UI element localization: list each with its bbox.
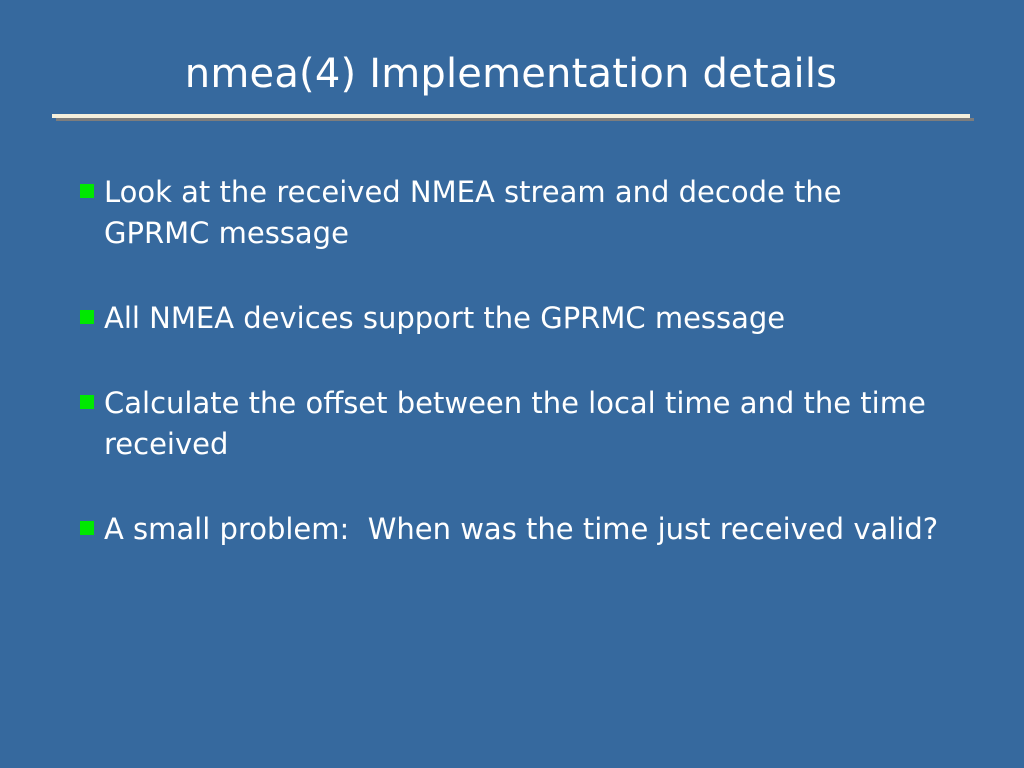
list-item: A small problem: When was the time just … (80, 509, 952, 550)
square-bullet-icon (80, 310, 94, 324)
title-divider-shadow (56, 118, 974, 121)
bullet-list: Look at the received NMEA stream and dec… (80, 172, 952, 550)
list-item-label: A small problem: When was the time just … (104, 509, 952, 550)
list-item: All NMEA devices support the GPRMC messa… (80, 298, 952, 339)
square-bullet-icon (80, 395, 94, 409)
page-title: nmea(4) Implementation details (52, 48, 970, 100)
square-bullet-icon (80, 521, 94, 535)
presentation-slide: nmea(4) Implementation details Look at t… (0, 0, 1024, 768)
list-item: Calculate the offset between the local t… (80, 383, 952, 465)
slide-title-block: nmea(4) Implementation details (52, 48, 970, 100)
square-bullet-icon (80, 184, 94, 198)
list-item-label: Look at the received NMEA stream and dec… (104, 172, 952, 254)
list-item-label: Calculate the offset between the local t… (104, 383, 952, 465)
title-divider (52, 114, 970, 118)
list-item-label: All NMEA devices support the GPRMC messa… (104, 298, 952, 339)
list-item: Look at the received NMEA stream and dec… (80, 172, 952, 254)
